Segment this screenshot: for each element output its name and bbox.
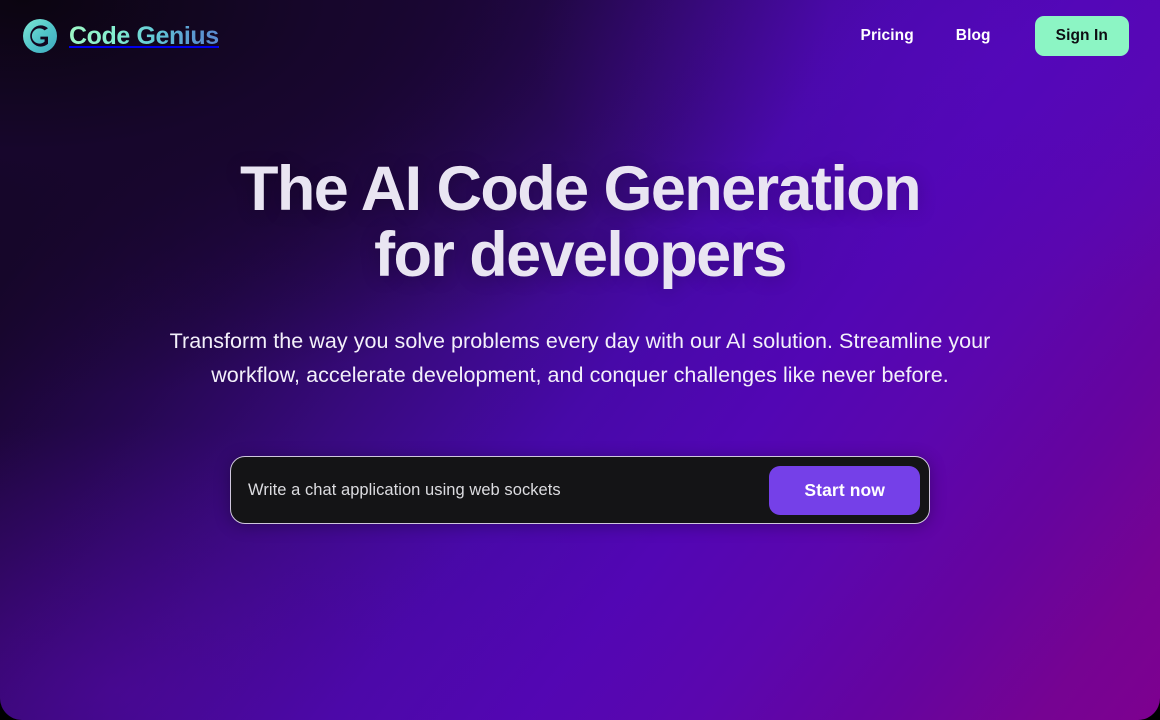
hero-section: The AI Code Generation for developers Tr… bbox=[0, 0, 1160, 524]
hero-title-line-1: The AI Code Generation bbox=[0, 156, 1160, 222]
browser-viewport: Code Genius Pricing Blog Sign In The AI … bbox=[0, 0, 1160, 720]
hero-title-line-2: for developers bbox=[0, 222, 1160, 288]
prompt-input[interactable] bbox=[248, 457, 769, 523]
prompt-bar: Start now bbox=[230, 456, 930, 524]
hero-title: The AI Code Generation for developers bbox=[0, 156, 1160, 288]
page-content: Code Genius Pricing Blog Sign In The AI … bbox=[0, 0, 1160, 720]
start-now-button[interactable]: Start now bbox=[769, 466, 920, 515]
hero-subtitle: Transform the way you solve problems eve… bbox=[152, 324, 1008, 392]
